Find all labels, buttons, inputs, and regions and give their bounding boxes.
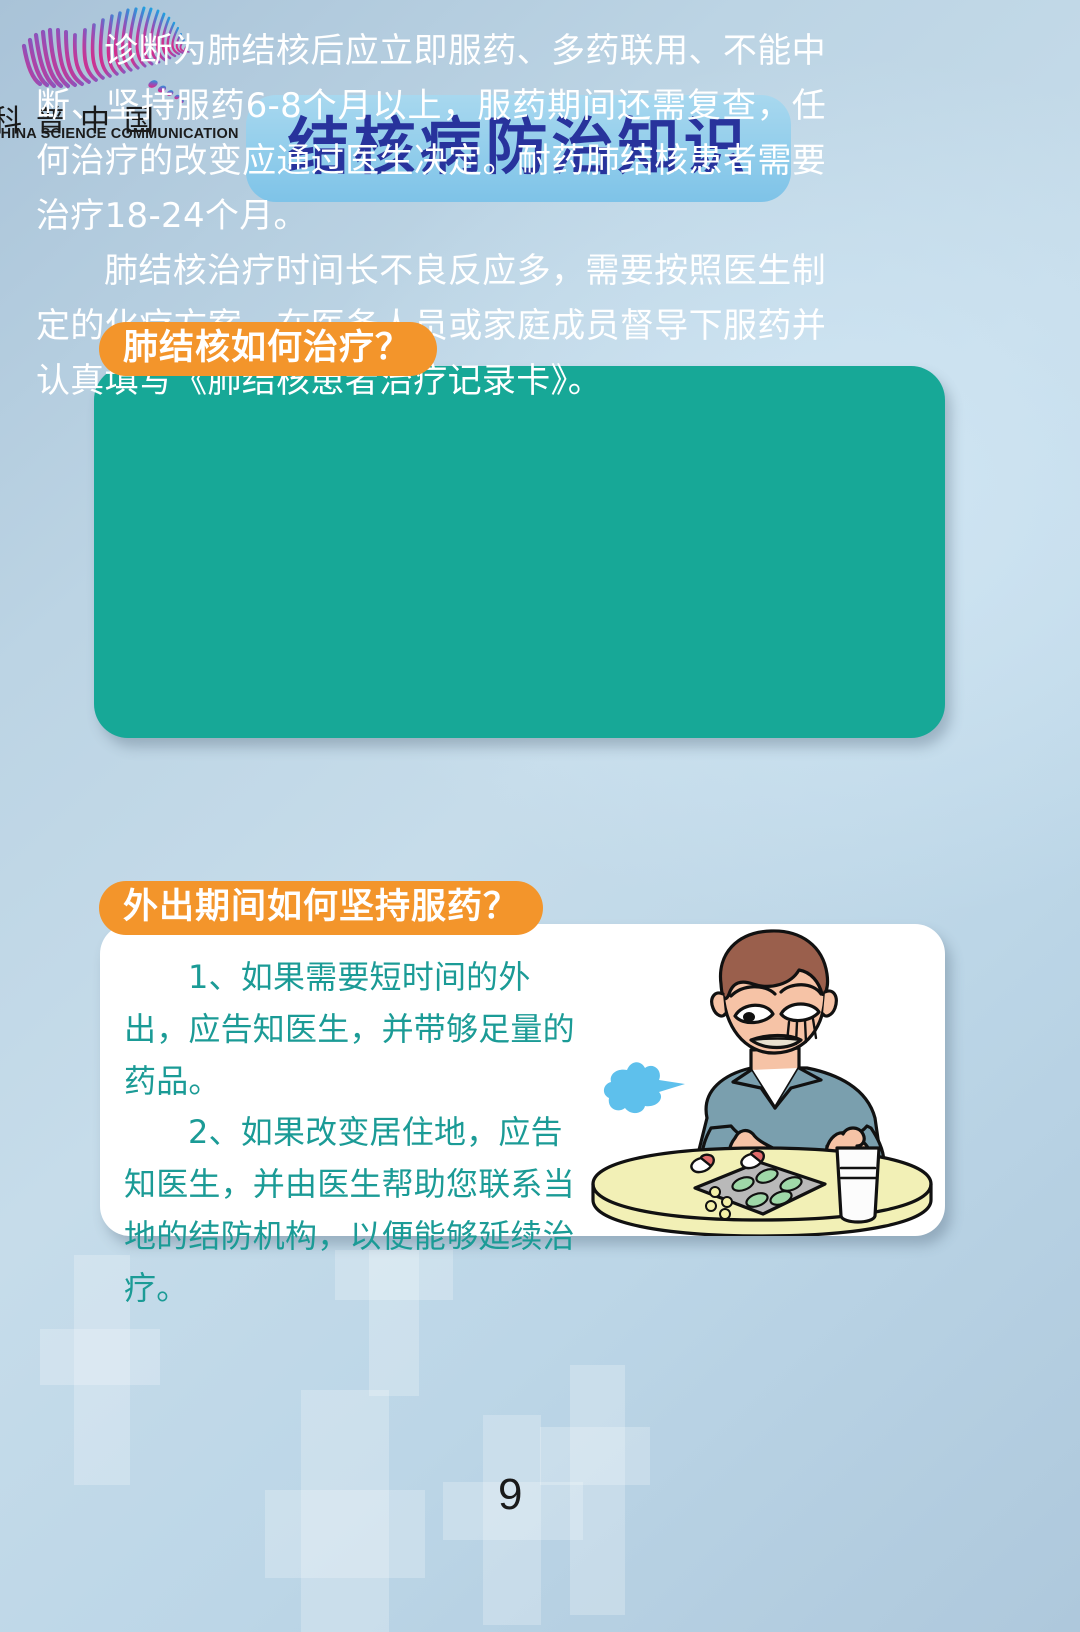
page-number: 9	[498, 1470, 522, 1520]
man-at-table-with-pills-illustration	[575, 922, 945, 1236]
travel-paragraph: 1、如果需要短时间的外出，应告知医生，并带够足量的药品。	[124, 952, 594, 1107]
background-cross-icon	[265, 1390, 425, 1632]
travel-paragraph: 2、如果改变居住地，应告知医生，并由医生帮助您联系当地的结防机构，以便能够延续治…	[124, 1107, 594, 1314]
travel-heading-pill: 外出期间如何坚持服药？	[99, 881, 543, 935]
page-root: 科普中国 CHINA SCIENCE COMMUNICATION 结核病防治知识…	[0, 0, 1080, 1632]
travel-body: 1、如果需要短时间的外出，应告知医生，并带够足量的药品。 2、如果改变居住地，应…	[124, 952, 594, 1315]
treatment-heading: 肺结核如何治疗？	[123, 331, 411, 366]
treatment-card	[94, 366, 945, 738]
travel-heading: 外出期间如何坚持服药？	[123, 890, 519, 925]
treatment-paragraph: 诊断为肺结核后应立即服药、多药联用、不能中断、坚持服药6-8个月以上，服药期间还…	[36, 24, 826, 244]
background-cross-icon	[443, 1415, 583, 1625]
background-cross-icon	[540, 1365, 650, 1615]
treatment-heading-pill: 肺结核如何治疗？	[99, 322, 437, 376]
